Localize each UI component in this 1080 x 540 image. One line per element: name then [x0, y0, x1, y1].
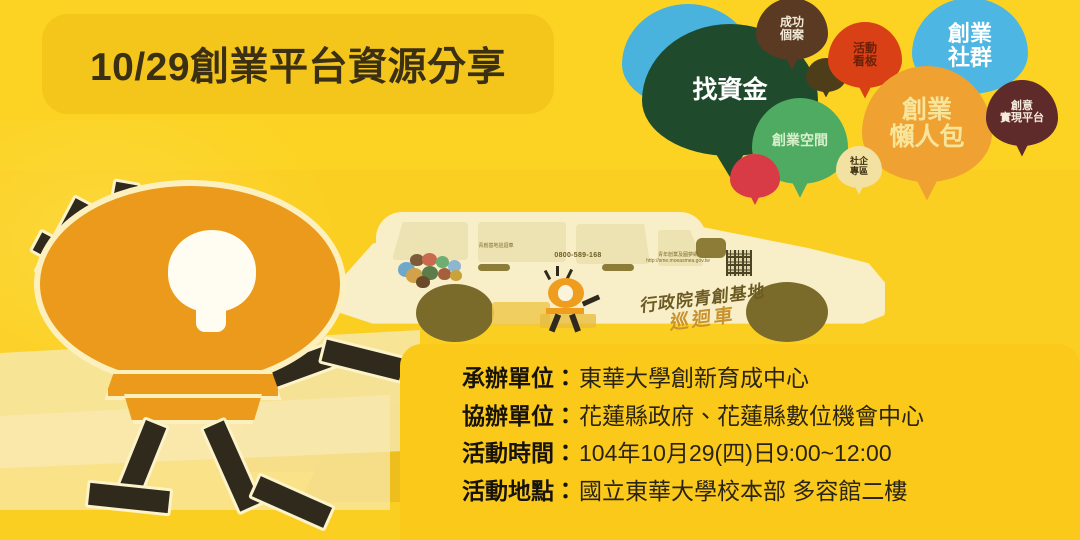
car-mascot-bulb: [558, 285, 573, 301]
info-label: 協辦單位：: [462, 400, 577, 434]
bubble-startup-kit-label: 創業 懶人包: [885, 97, 968, 151]
car-mascot-leg-right: [569, 314, 581, 333]
lightbulb-mascot: [0, 118, 390, 538]
car-mini-bubble-10: [416, 276, 430, 288]
car-mini-bubble-9: [450, 270, 462, 281]
bubble-success-case-label: 成功 個案: [776, 16, 808, 42]
bubble-startup-space-label: 創業空間: [768, 133, 832, 148]
mascot-body-lower: [118, 394, 268, 424]
car-website-text: 青年創業及圓夢網 http://sme.moeasmea.gov.tw: [632, 252, 724, 265]
info-label: 活動時間：: [462, 437, 577, 471]
car-wheel-front: [416, 284, 494, 342]
qr-code-icon: [726, 250, 752, 276]
info-value: 東華大學創新育成中心: [579, 362, 809, 396]
car-mascot-spark-mid: [556, 266, 559, 276]
bubble-social-enterprise: 社企 專區: [836, 146, 882, 188]
title-plaque: 10/29創業平台資源分享: [42, 14, 554, 114]
car-phone-number: 0800-589-168: [528, 252, 628, 259]
car-mini-bubble-decals: [396, 252, 480, 286]
car-mascot-body: [546, 308, 584, 314]
car-mini-bubble-3: [422, 253, 437, 266]
lightbulb-base: [196, 294, 226, 332]
info-row: 承辦單位：東華大學創新育成中心: [400, 362, 1080, 396]
bubble-red-plain: [730, 154, 780, 198]
mascot-leg-right-foot: [248, 472, 336, 532]
info-label: 活動地點：: [462, 475, 577, 509]
bubble-idea-platform: 創意 實現平台: [986, 80, 1058, 146]
info-value: 花蓮縣政府、花蓮縣數位機會中心: [579, 400, 924, 434]
car-mascot-leg-left: [549, 314, 561, 333]
car-door-handle-rear: [602, 264, 634, 271]
info-row: 協辦單位：花蓮縣政府、花蓮縣數位機會中心: [400, 400, 1080, 434]
car-mascot-arm: [582, 295, 600, 307]
event-info-rows: 承辦單位：東華大學創新育成中心協辦單位：花蓮縣政府、花蓮縣數位機會中心活動時間：…: [400, 344, 1080, 508]
info-value: 104年10月29(四)日9:00~12:00: [579, 437, 892, 471]
bubble-idea-platform-label: 創意 實現平台: [996, 101, 1048, 125]
tour-car-illustration: 青創基地巡迴車 0800-589-168 青年創業及圓夢網 http://sme…: [340, 196, 885, 348]
car-mascot-decal: [534, 272, 608, 332]
bubble-find-funding-label: 找資金: [688, 77, 771, 104]
bubble-activity-board-label: 活動 看板: [849, 42, 881, 68]
mascot-leg-left-foot: [85, 480, 173, 517]
bubble-social-enterprise-label: 社企 專區: [846, 157, 872, 176]
car-door-handle-front: [478, 264, 510, 271]
info-row: 活動地點：國立東華大學校本部 多容館二樓: [400, 475, 1080, 509]
bubble-success-case: 成功 個案: [756, 0, 828, 60]
car-mascot-spark-left: [544, 270, 551, 280]
promo-poster: 找資金成功 個案活動 看板創業 社群創業 懶人包創業空間社企 專區創意 實現平台…: [0, 0, 1080, 540]
event-info-panel: 承辦單位：東華大學創新育成中心協辦單位：花蓮縣政府、花蓮縣數位機會中心活動時間：…: [400, 344, 1080, 540]
info-row: 活動時間：104年10月29(四)日9:00~12:00: [400, 437, 1080, 471]
info-value: 國立東華大學校本部 多容館二樓: [579, 475, 907, 509]
page-title: 10/29創業平台資源分享: [90, 36, 506, 92]
info-label: 承辦單位：: [462, 362, 577, 396]
bubble-startup-community-label: 創業 社群: [944, 22, 996, 70]
speech-bubble-cluster: 找資金成功 個案活動 看板創業 社群創業 懶人包創業空間社企 專區創意 實現平台: [600, 0, 1080, 226]
car-side-label: 青創基地巡迴車: [466, 242, 526, 249]
